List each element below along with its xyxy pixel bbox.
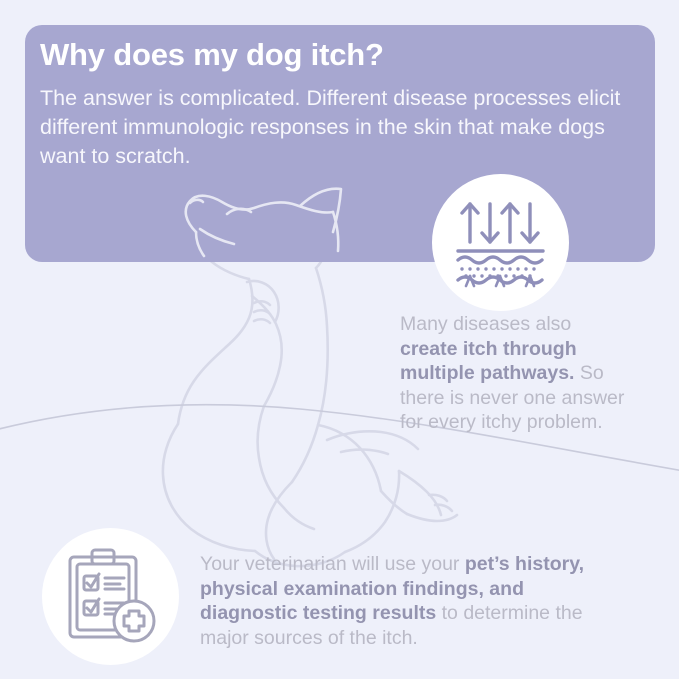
skin-barrier-badge (432, 174, 569, 311)
hero-body-text: The answer is complicated. Different dis… (40, 84, 636, 171)
page-title: Why does my dog itch? (40, 37, 384, 73)
medical-clipboard-badge (42, 528, 179, 665)
skin-barrier-arrows-icon (446, 188, 556, 298)
medical-clipboard-checklist-icon (58, 544, 164, 650)
pathways-paragraph: Many diseases also create itch through m… (400, 312, 628, 435)
pathways-lead: Many diseases also (400, 313, 571, 335)
veterinarian-paragraph: Your veterinarian will use your pet’s hi… (200, 552, 624, 650)
vet-lead: Your veterinarian will use your (200, 553, 465, 575)
pathways-emphasis: create itch through multiple pathways. (400, 338, 577, 385)
infographic-canvas: Why does my dog itch? The answer is comp… (0, 0, 679, 679)
